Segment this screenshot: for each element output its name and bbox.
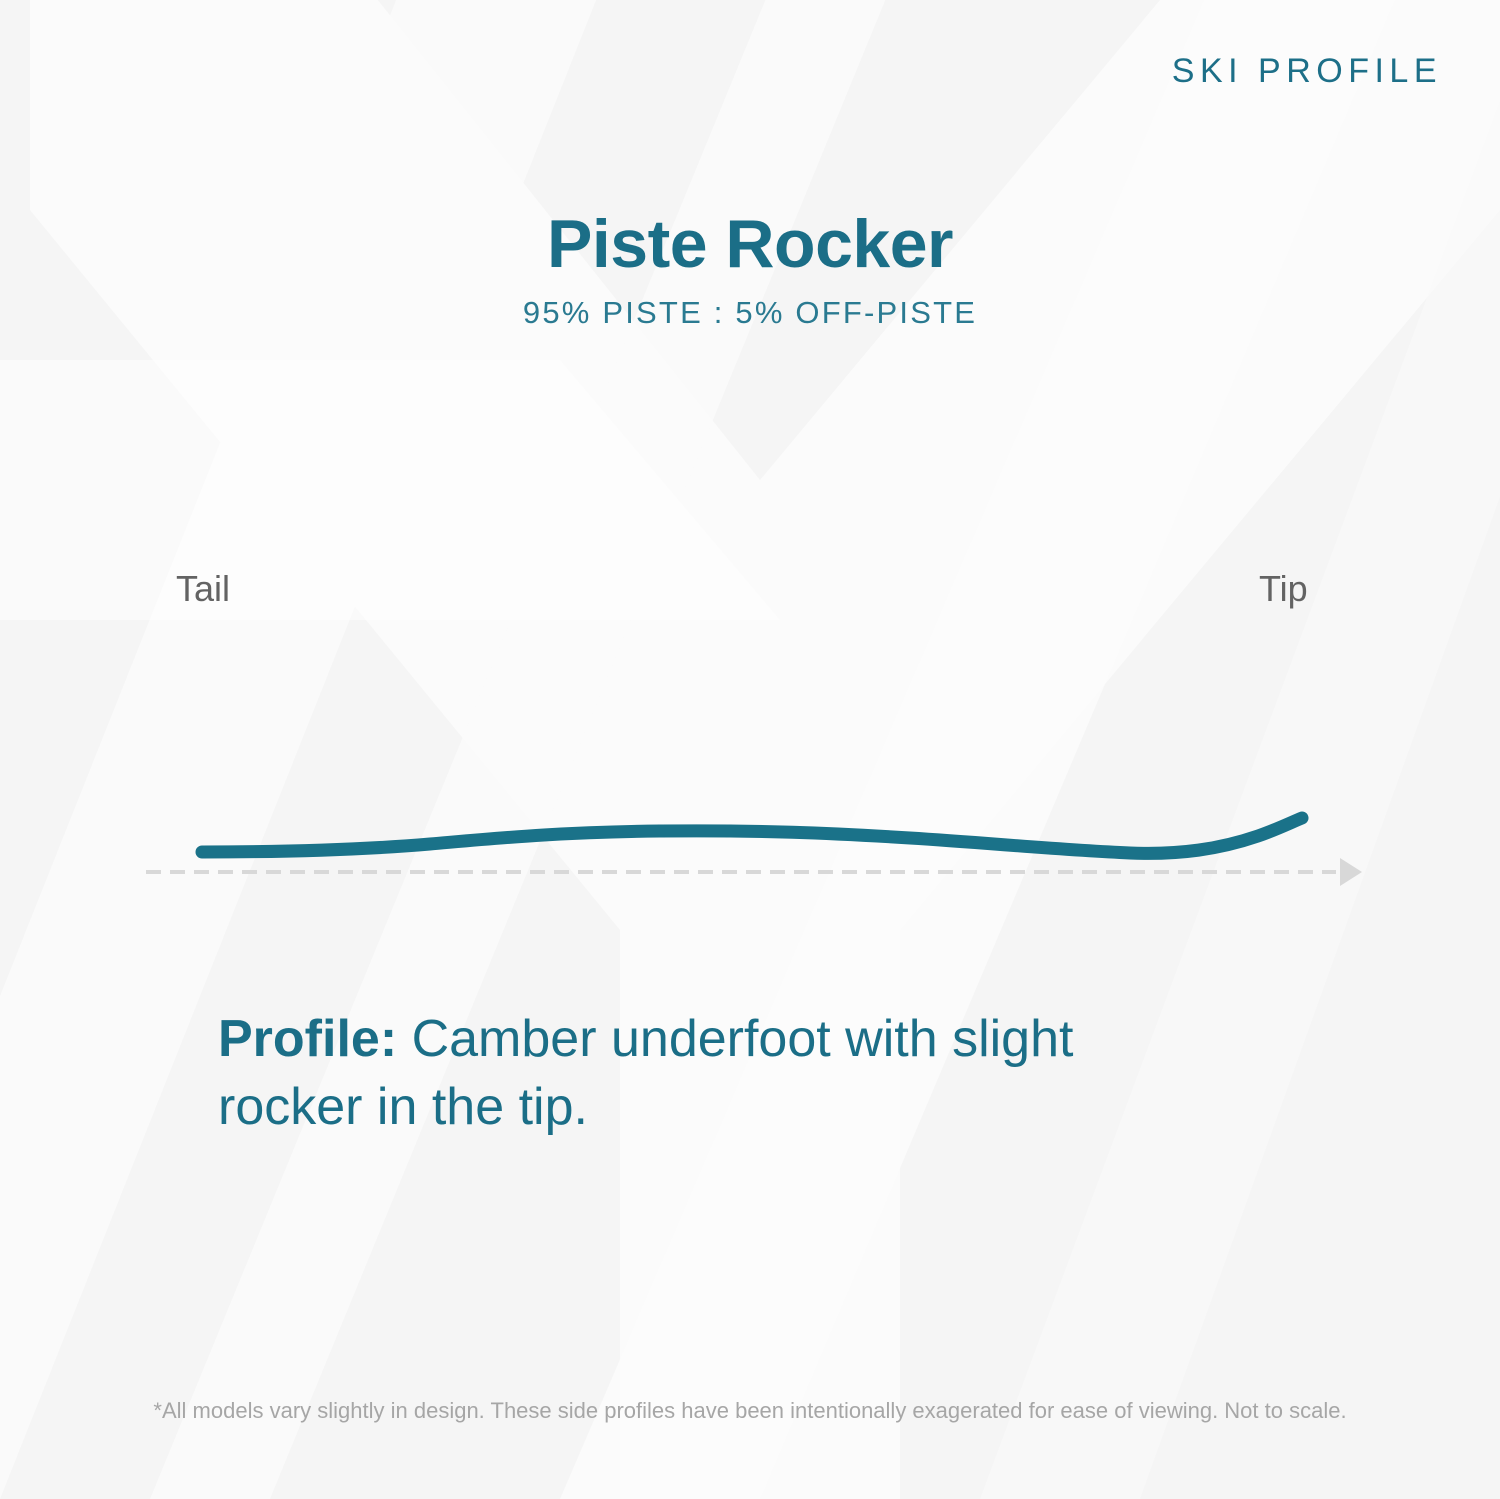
page-eyebrow: SKI PROFILE <box>1172 52 1442 91</box>
tail-label: Tail <box>176 568 230 610</box>
footnote-disclaimer: *All models vary slightly in design. The… <box>0 1398 1500 1424</box>
tip-label: Tip <box>1259 568 1308 610</box>
ski-profile-card: SKI PROFILE Piste Rocker 95% PISTE : 5% … <box>0 0 1500 1499</box>
page-title: Piste Rocker <box>0 208 1500 281</box>
ski-profile-diagram <box>0 740 1500 940</box>
arrow-right-icon <box>1340 858 1362 886</box>
page-subtitle: 95% PISTE : 5% OFF-PISTE <box>0 295 1500 331</box>
title-block: Piste Rocker 95% PISTE : 5% OFF-PISTE <box>0 208 1500 331</box>
profile-description-lead: Profile: <box>218 1010 397 1068</box>
ski-profile-curve-icon <box>202 818 1302 853</box>
profile-description: Profile: Camber underfoot with slight ro… <box>218 1006 1218 1141</box>
